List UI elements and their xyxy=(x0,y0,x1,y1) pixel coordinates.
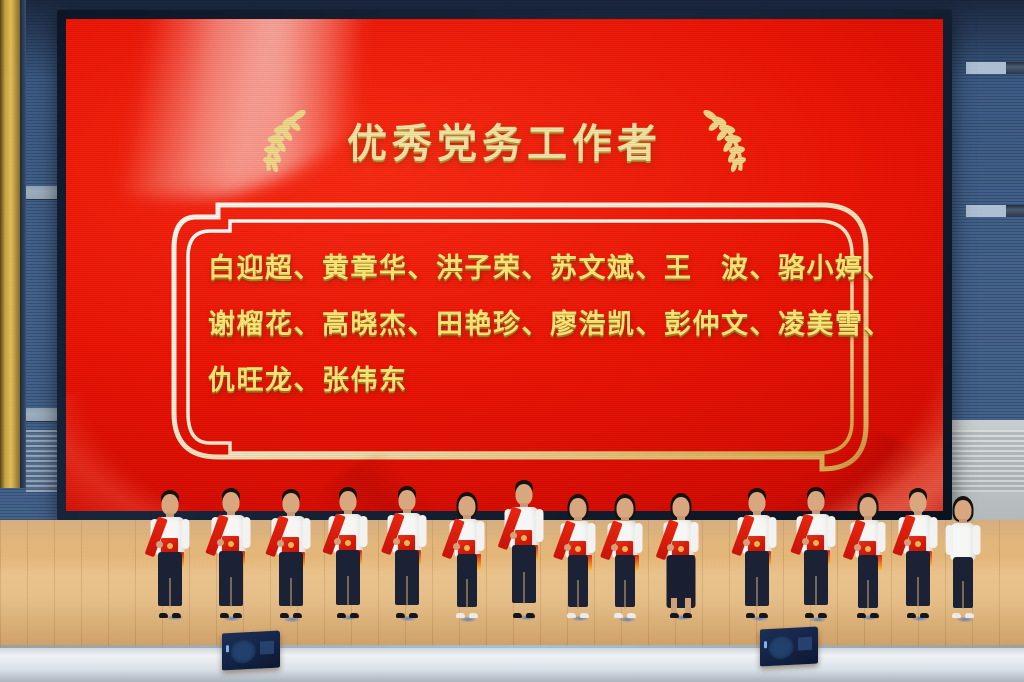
head xyxy=(459,496,476,517)
head xyxy=(340,491,357,512)
leg-separation xyxy=(815,576,817,606)
leg-separation xyxy=(917,577,919,607)
honoree-name-list: 白迎超、黄章华、洪子荣、苏文斌、王 波、骆小婷、 谢榴花、高晓杰、田艳珍、廖浩凯… xyxy=(208,241,848,409)
head xyxy=(910,492,927,513)
shoe xyxy=(627,613,636,618)
shoe xyxy=(965,613,974,618)
speaker-grill xyxy=(230,639,256,664)
arm xyxy=(878,522,886,552)
arm xyxy=(477,521,485,551)
hand xyxy=(802,538,809,545)
award-recipient xyxy=(898,488,939,618)
name-line: 谢榴花、高晓杰、田艳珍、廖浩凯、彭仲文、凌美雪、 xyxy=(208,297,848,353)
shoe xyxy=(818,613,827,618)
shoe xyxy=(513,613,522,618)
award-recipient xyxy=(271,489,312,618)
leg-separation xyxy=(867,580,869,609)
speaker-led-icon xyxy=(226,645,229,652)
head xyxy=(162,494,179,515)
arm xyxy=(182,519,190,549)
arm xyxy=(930,517,938,548)
shoe xyxy=(293,613,302,618)
shoe xyxy=(759,613,768,618)
shoe xyxy=(526,613,535,618)
hand xyxy=(453,543,460,550)
certificate-emblem xyxy=(813,540,819,546)
shoe xyxy=(670,613,679,618)
stage-monitor-left xyxy=(222,630,280,670)
arm xyxy=(360,516,368,547)
head xyxy=(860,497,877,518)
hand xyxy=(854,544,861,551)
head xyxy=(516,484,533,505)
certificate-emblem xyxy=(521,535,527,541)
shoe xyxy=(920,613,929,618)
led-screen-display: 优秀党务工作者 xyxy=(66,19,943,511)
shoe xyxy=(580,613,589,618)
head xyxy=(283,493,300,514)
leg-separation xyxy=(756,577,758,607)
hand xyxy=(393,538,400,545)
laurel-branch-icon xyxy=(696,107,752,173)
head xyxy=(673,497,690,518)
certificate-emblem xyxy=(345,540,351,546)
laurel-branch-icon xyxy=(257,107,313,173)
speaker-grill xyxy=(768,635,794,660)
shoe xyxy=(870,613,879,618)
arm xyxy=(691,522,699,552)
leg-separation xyxy=(577,580,579,609)
shoe xyxy=(907,613,916,618)
speaker-tweeter xyxy=(260,641,274,655)
certificate-emblem xyxy=(167,543,173,549)
arm xyxy=(946,525,954,555)
certificate-emblem xyxy=(228,541,234,547)
shoe xyxy=(952,613,961,618)
name-line: 白迎超、黄章华、洪子荣、苏文斌、王 波、骆小婷、 xyxy=(208,241,848,297)
hand xyxy=(217,539,224,546)
shoe xyxy=(614,613,623,618)
award-recipient xyxy=(449,492,486,618)
certificate-emblem xyxy=(678,546,684,552)
hand xyxy=(334,538,341,545)
left-amber-pillar xyxy=(0,0,20,488)
shoe xyxy=(337,613,346,618)
certificate-emblem xyxy=(288,542,294,548)
certificate-emblem xyxy=(865,546,871,552)
certificate-emblem xyxy=(622,546,628,552)
head xyxy=(749,492,766,513)
shoe xyxy=(683,613,692,618)
arm xyxy=(828,516,836,547)
leg-separation xyxy=(169,578,171,608)
hand xyxy=(156,541,163,548)
ceremony-photo-scene: 优秀党务工作者 xyxy=(0,0,1024,682)
stage-monitor-right xyxy=(760,626,818,666)
wall-band-right-lower-dark xyxy=(1006,205,1024,217)
led-screen-bezel: 优秀党务工作者 xyxy=(57,10,952,520)
certificate-emblem xyxy=(404,540,410,546)
leg-separation xyxy=(523,572,525,604)
award-recipient xyxy=(328,487,369,618)
leg-separation xyxy=(230,577,232,607)
certificate-emblem xyxy=(464,545,470,551)
arm xyxy=(973,525,981,555)
arm xyxy=(243,517,251,548)
certificate-emblem xyxy=(915,541,921,547)
shoe xyxy=(233,613,242,618)
shoe xyxy=(469,613,478,618)
leg-separation xyxy=(406,576,408,606)
arm xyxy=(635,523,643,553)
arm xyxy=(303,518,311,549)
head xyxy=(808,491,825,512)
award-recipient xyxy=(737,488,778,618)
award-recipient xyxy=(607,494,644,618)
award-recipient xyxy=(945,496,982,618)
award-recipient xyxy=(560,494,597,618)
hand xyxy=(277,540,284,547)
hand xyxy=(904,539,911,546)
shoe xyxy=(350,613,359,618)
hand xyxy=(743,539,750,546)
head xyxy=(570,498,587,519)
shoe xyxy=(220,613,229,618)
award-recipient xyxy=(387,486,428,618)
certificate-emblem xyxy=(754,541,760,547)
award-recipient xyxy=(663,493,700,618)
shoe xyxy=(172,613,181,618)
award-recipient xyxy=(850,493,887,618)
leg-separation xyxy=(962,581,964,609)
speaker-tweeter xyxy=(798,637,812,651)
leg-separation xyxy=(347,576,349,606)
speaker-led-icon xyxy=(764,641,767,648)
hand xyxy=(611,544,618,551)
hand xyxy=(564,544,571,551)
certificate-emblem xyxy=(575,546,581,552)
shoe xyxy=(746,613,755,618)
arm xyxy=(588,523,596,553)
shoe xyxy=(280,613,289,618)
head xyxy=(617,498,634,519)
award-recipient xyxy=(796,487,837,618)
shoe xyxy=(409,613,418,618)
shoe xyxy=(805,613,814,618)
arm xyxy=(536,509,544,542)
shoe xyxy=(567,613,576,618)
leg-separation xyxy=(466,579,468,608)
wall-band-right-upper-dark xyxy=(1006,62,1024,74)
leg-separation xyxy=(624,580,626,609)
page-title: 优秀党务工作者 xyxy=(347,111,662,169)
name-line: 仇旺龙、张伟东 xyxy=(208,353,848,409)
award-recipient xyxy=(211,488,252,618)
head xyxy=(399,490,416,511)
head xyxy=(955,500,972,521)
award-recipient xyxy=(150,490,191,618)
stage-front-edge xyxy=(0,648,1024,682)
white-shirt xyxy=(951,523,976,560)
hand xyxy=(667,544,674,551)
arm xyxy=(769,517,777,548)
shoe xyxy=(857,613,866,618)
leg-separation xyxy=(290,578,292,608)
hand xyxy=(510,532,517,539)
screen-title-row: 优秀党务工作者 xyxy=(66,107,943,173)
shoe xyxy=(456,613,465,618)
arm xyxy=(419,515,427,547)
shoe xyxy=(396,613,405,618)
award-recipient xyxy=(504,480,545,618)
shoe xyxy=(159,613,168,618)
head xyxy=(223,492,240,513)
